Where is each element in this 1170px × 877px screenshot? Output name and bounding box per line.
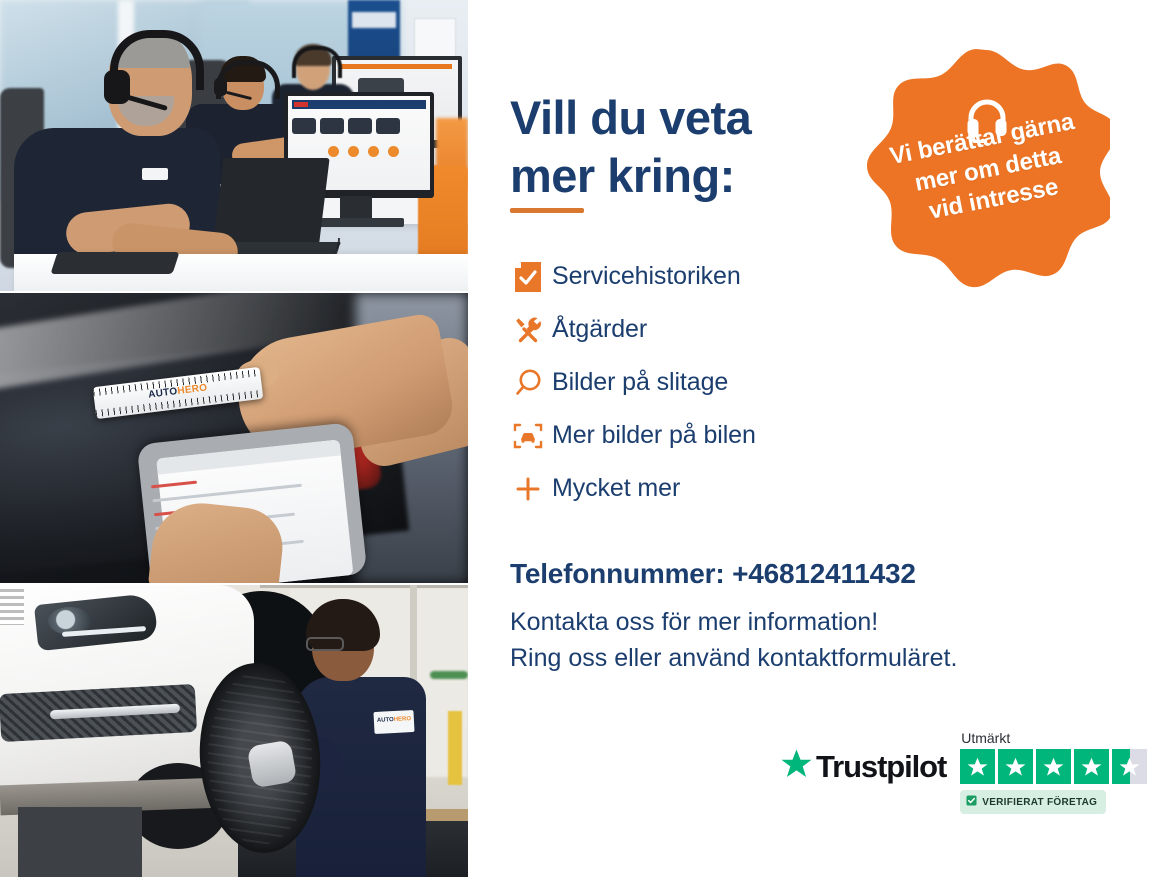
feature-label: Mer bilder på bilen [552,421,756,450]
star-icon-4 [1074,749,1109,784]
trustpilot-wordmark: Trustpilot [816,749,946,785]
trustpilot-logo: Trustpilot [780,748,946,785]
contact-instructions: Kontakta oss för mer information! Ring o… [510,604,957,677]
contact-line-1: Kontakta oss för mer information! [510,604,957,640]
feature-item-mycket-mer: Mycket mer [504,462,924,515]
contact-line-2: Ring oss eller använd kontaktformuläret. [510,640,957,676]
vehicle-inspection-photo: AUTOHERO [0,293,468,583]
feature-label: Mycket mer [552,474,680,503]
phone-number-line: Telefonnummer: +46812411432 [510,558,916,590]
star-icon-2 [998,749,1033,784]
headline-line-2: mer kring: [510,147,870,204]
page-title: Vill du veta mer kring: [510,89,870,204]
feature-item-mer-bilder-pa-bilen: Mer bilder på bilen [504,409,924,462]
verified-company-label: VERIFIERAT FÖRETAG [982,797,1097,808]
tyre-service-photo: AUTOHERO [0,585,468,877]
verified-company-badge: VERIFIERAT FÖRETAG [960,790,1106,814]
feature-label: Bilder på slitage [552,368,728,397]
document-check-icon [504,262,552,292]
star-icon-5-half [1112,749,1147,784]
headline-line-1: Vill du veta [510,91,751,144]
feature-item-atgarder: Åtgärder [504,303,924,356]
phone-label: Telefonnummer: [510,558,724,589]
trustpilot-widget[interactable]: Trustpilot Utmärkt [780,730,1147,814]
promo-page: AUTOHERO [0,0,1170,877]
feature-label: Åtgärder [552,315,647,344]
star-icon-1 [960,749,995,784]
phone-number[interactable]: +46812411432 [732,558,916,589]
feature-item-bilder-pa-slitage: Bilder på slitage [504,356,924,409]
feature-list: Servicehistoriken Åtgärder [504,250,924,515]
info-badge: Vi berättar gärna mer om detta vid intre… [862,46,1110,302]
car-scan-icon [504,422,552,450]
feature-item-servicehistoriken: Servicehistoriken [504,250,924,303]
wrench-screwdriver-icon [504,315,552,345]
verified-check-icon [966,793,977,811]
trustpilot-stars [960,749,1147,784]
photo-column: AUTOHERO [0,0,468,877]
content-panel: Vill du veta mer kring: Servicehistorike… [468,0,1170,877]
magnifier-icon [504,368,552,398]
call-centre-agents-photo [0,0,468,291]
plus-icon [504,474,552,504]
trustpilot-rating-text: Utmärkt [961,730,1010,746]
trustpilot-star-icon [780,748,813,785]
title-divider [510,208,584,213]
feature-label: Servicehistoriken [552,262,741,291]
star-icon-3 [1036,749,1071,784]
